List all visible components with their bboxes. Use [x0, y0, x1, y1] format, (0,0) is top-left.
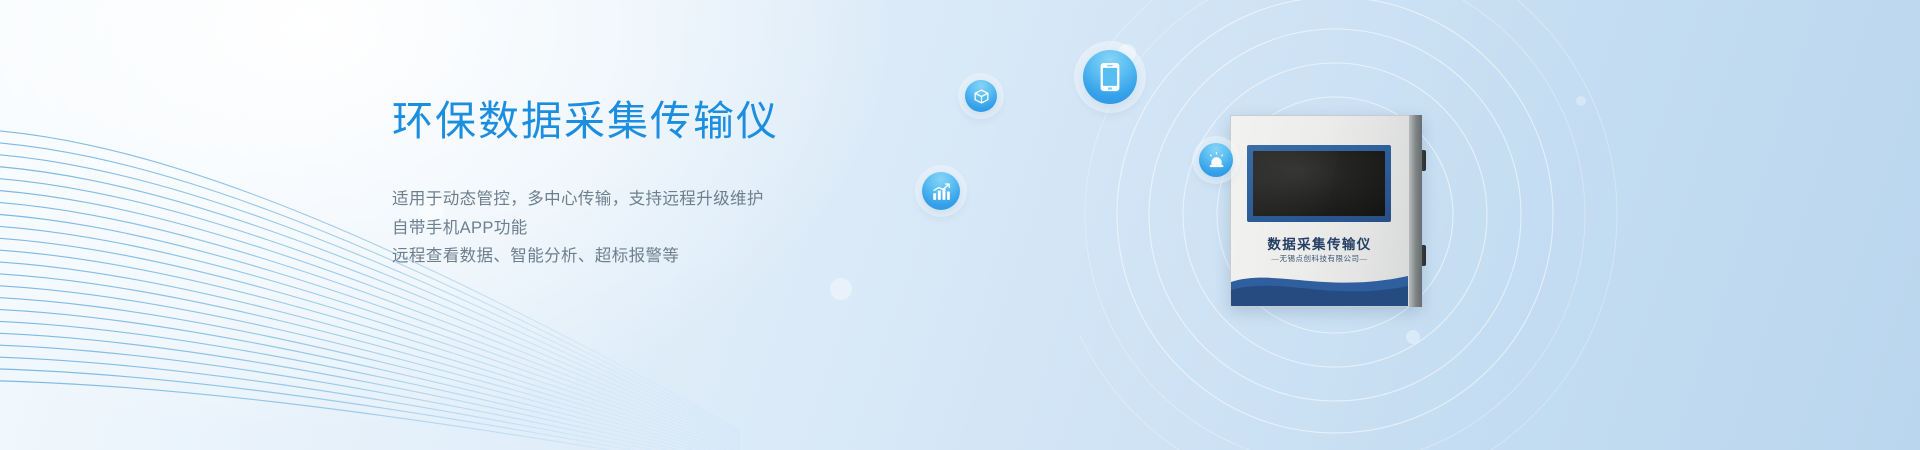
subtitle-list: 适用于动态管控，多中心传输，支持远程升级维护 自带手机APP功能 远程查看数据、… [392, 185, 952, 271]
page-title: 环保数据采集传输仪 [392, 96, 952, 147]
alarm-icon[interactable] [1199, 143, 1233, 177]
decorative-bubble [830, 278, 852, 300]
device-screen [1253, 151, 1385, 216]
device-sublabel: —无锡点创科技有限公司— [1231, 253, 1408, 264]
device-wave-graphic [1231, 264, 1408, 306]
device-photo: 数据采集传输仪 —无锡点创科技有限公司— [1230, 115, 1422, 307]
device-side-edge [1409, 115, 1422, 307]
subtitle-line-3: 远程查看数据、智能分析、超标报警等 [392, 242, 952, 271]
device-enclosure: 数据采集传输仪 —无锡点创科技有限公司— [1230, 115, 1422, 307]
subtitle-line-2: 自带手机APP功能 [392, 214, 952, 243]
product-scene: 数据采集传输仪 —无锡点创科技有限公司— [1080, 0, 1780, 450]
device-label: 数据采集传输仪 [1231, 233, 1408, 253]
chart-icon[interactable] [922, 172, 960, 210]
product-banner: 环保数据采集传输仪 适用于动态管控，多中心传输，支持远程升级维护 自带手机APP… [0, 0, 1920, 450]
device-screen-bezel [1247, 145, 1391, 222]
banner-text-block: 环保数据采集传输仪 适用于动态管控，多中心传输，支持远程升级维护 自带手机APP… [392, 96, 952, 271]
subtitle-line-1: 适用于动态管控，多中心传输，支持远程升级维护 [392, 185, 952, 214]
box-icon[interactable] [965, 80, 997, 112]
phone-icon[interactable] [1083, 50, 1137, 104]
arc-rings-decoration [1080, 0, 1780, 450]
